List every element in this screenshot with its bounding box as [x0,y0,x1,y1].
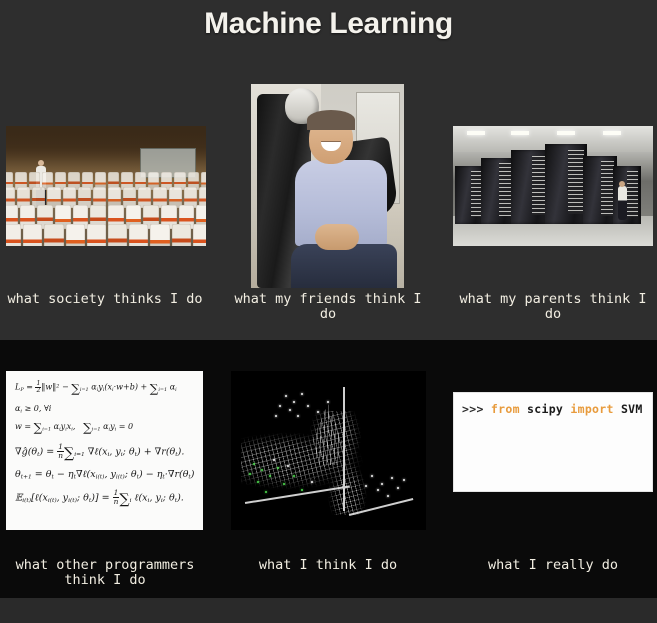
data-point [285,395,287,397]
man-lap [291,244,397,288]
caption-i-think: what I think I do [228,558,428,573]
data-point [301,393,303,395]
server-rack [481,158,515,224]
caption-other-programmers: what other programmers think I do [2,558,208,588]
hyperplane-wireframe-surface [241,411,393,515]
data-point [279,405,281,407]
data-point [403,479,405,481]
title-bar: Machine Learning [0,0,657,48]
equation-lagrangian: LP = 12‖w‖2 − ∑i=1 αiyi(xi·w+b) + ∑i=1 α… [15,381,194,395]
equation-weights: w = ∑i=1 αiyixi, ∑i=1 αiyi = 0 [15,422,194,432]
server-rack [545,144,587,224]
keyword-from: from [491,402,520,416]
symbol-name-svm: SVM [614,402,643,416]
man-with-robot-arm-photo [251,84,404,288]
python-terminal-panel: >>> from scipy import SVM [453,392,653,492]
ceiling-light [467,131,485,135]
meme-image: Machine Learning [0,0,657,623]
ceiling-light [603,131,621,135]
server-rack [583,156,617,224]
page-title: Machine Learning [204,7,453,41]
background-footer-strip [0,598,657,623]
server-rack [511,150,549,224]
equation-constraint: αi ≥ 0, ∀i [15,404,194,414]
ceiling-light [511,131,529,135]
caption-society: what society thinks I do [2,292,208,307]
robot-row [6,224,206,246]
man-hair [307,110,355,130]
keyword-import: import [570,402,613,416]
data-point [327,401,329,403]
man-clasped-hands [315,224,359,250]
3d-svm-hyperplane-plot [231,371,426,530]
data-point [397,487,399,489]
terminal-line: >>> from scipy import SVM [462,402,644,416]
robot-rows [6,172,206,246]
supercomputer-datacenter-photo [453,126,653,246]
module-name-scipy: scipy [520,402,571,416]
data-point [293,401,295,403]
equation-sgd-update: θt+1 = θt − ηt∇ℓ(xi(t), yi(t); θt) − ηt·… [15,469,194,481]
datacenter-technician [618,186,627,220]
caption-i-really-do: what I really do [450,558,656,573]
hall-of-humanoid-robots-photo [6,126,206,246]
caption-parents: what my parents think I do [450,292,656,322]
ceiling-light [557,131,575,135]
data-point [307,405,309,407]
caption-friends: what my friends think I do [228,292,428,322]
terminal-prompt: >>> [462,402,491,416]
equation-expectation: 𝔼i(t)[ℓ(xi(t), yi(t); θt)] = 1n∑i ℓ(xi, … [15,489,194,505]
svm-math-equations-panel: LP = 12‖w‖2 − ∑i=1 αiyi(xi·w+b) + ∑i=1 α… [6,371,203,530]
equation-gradient: ∇ĝ(θt) = 1n∑i=1 ∇ℓ(xi, yi; θt) + ∇r(θt). [15,443,194,459]
